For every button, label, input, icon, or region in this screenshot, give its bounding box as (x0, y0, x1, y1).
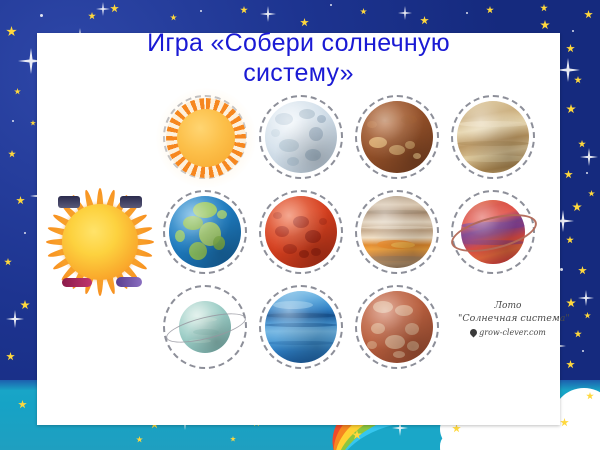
card-fragment-topleft (58, 196, 80, 208)
planet-body-uranus (160, 282, 252, 374)
planet-card-mars[interactable] (256, 187, 348, 279)
planet-card-earth[interactable] (160, 187, 252, 279)
planet-body-moon (256, 92, 348, 184)
planet-body-earth (160, 187, 252, 279)
watermark-line1: Лото (458, 300, 558, 312)
planet-card-venus[interactable] (448, 92, 540, 184)
planet-card-sun[interactable] (160, 92, 252, 184)
planet-body-neptune (256, 282, 348, 374)
planet-body-pluto (352, 282, 444, 374)
planet-card-mercury[interactable] (352, 92, 444, 184)
planet-card-neptune[interactable] (256, 282, 348, 374)
planet-card-jupiter[interactable] (352, 187, 444, 279)
planet-card-moon[interactable] (256, 92, 348, 184)
planet-body-sun (160, 92, 252, 184)
planet-card-pluto[interactable] (352, 282, 444, 374)
watermark-line3: grow-clever.com (458, 327, 558, 339)
planet-card-uranus[interactable] (160, 282, 252, 374)
planet-body-mars (256, 187, 348, 279)
sun-core (62, 204, 138, 280)
planet-body-saturn (448, 187, 540, 279)
planet-card-saturn[interactable] (448, 187, 540, 279)
card-fragment-topright (120, 196, 142, 208)
page-title: Игра «Собери солнечную систему» (37, 28, 560, 88)
planet-body-mercury (352, 92, 444, 184)
watermark: Лото "Солнечная система" grow-clever.com (458, 300, 558, 339)
leaf-icon (469, 328, 479, 338)
card-fragment-bottomright (116, 277, 142, 287)
watermark-url: grow-clever.com (479, 328, 546, 337)
watermark-line2: "Солнечная система" (458, 312, 558, 325)
planet-body-venus (448, 92, 540, 184)
slide-stage: Игра «Собери солнечную систему» Лото "Со… (0, 0, 600, 450)
planet-body-jupiter (352, 187, 444, 279)
card-fragment-bottomleft (62, 278, 92, 287)
